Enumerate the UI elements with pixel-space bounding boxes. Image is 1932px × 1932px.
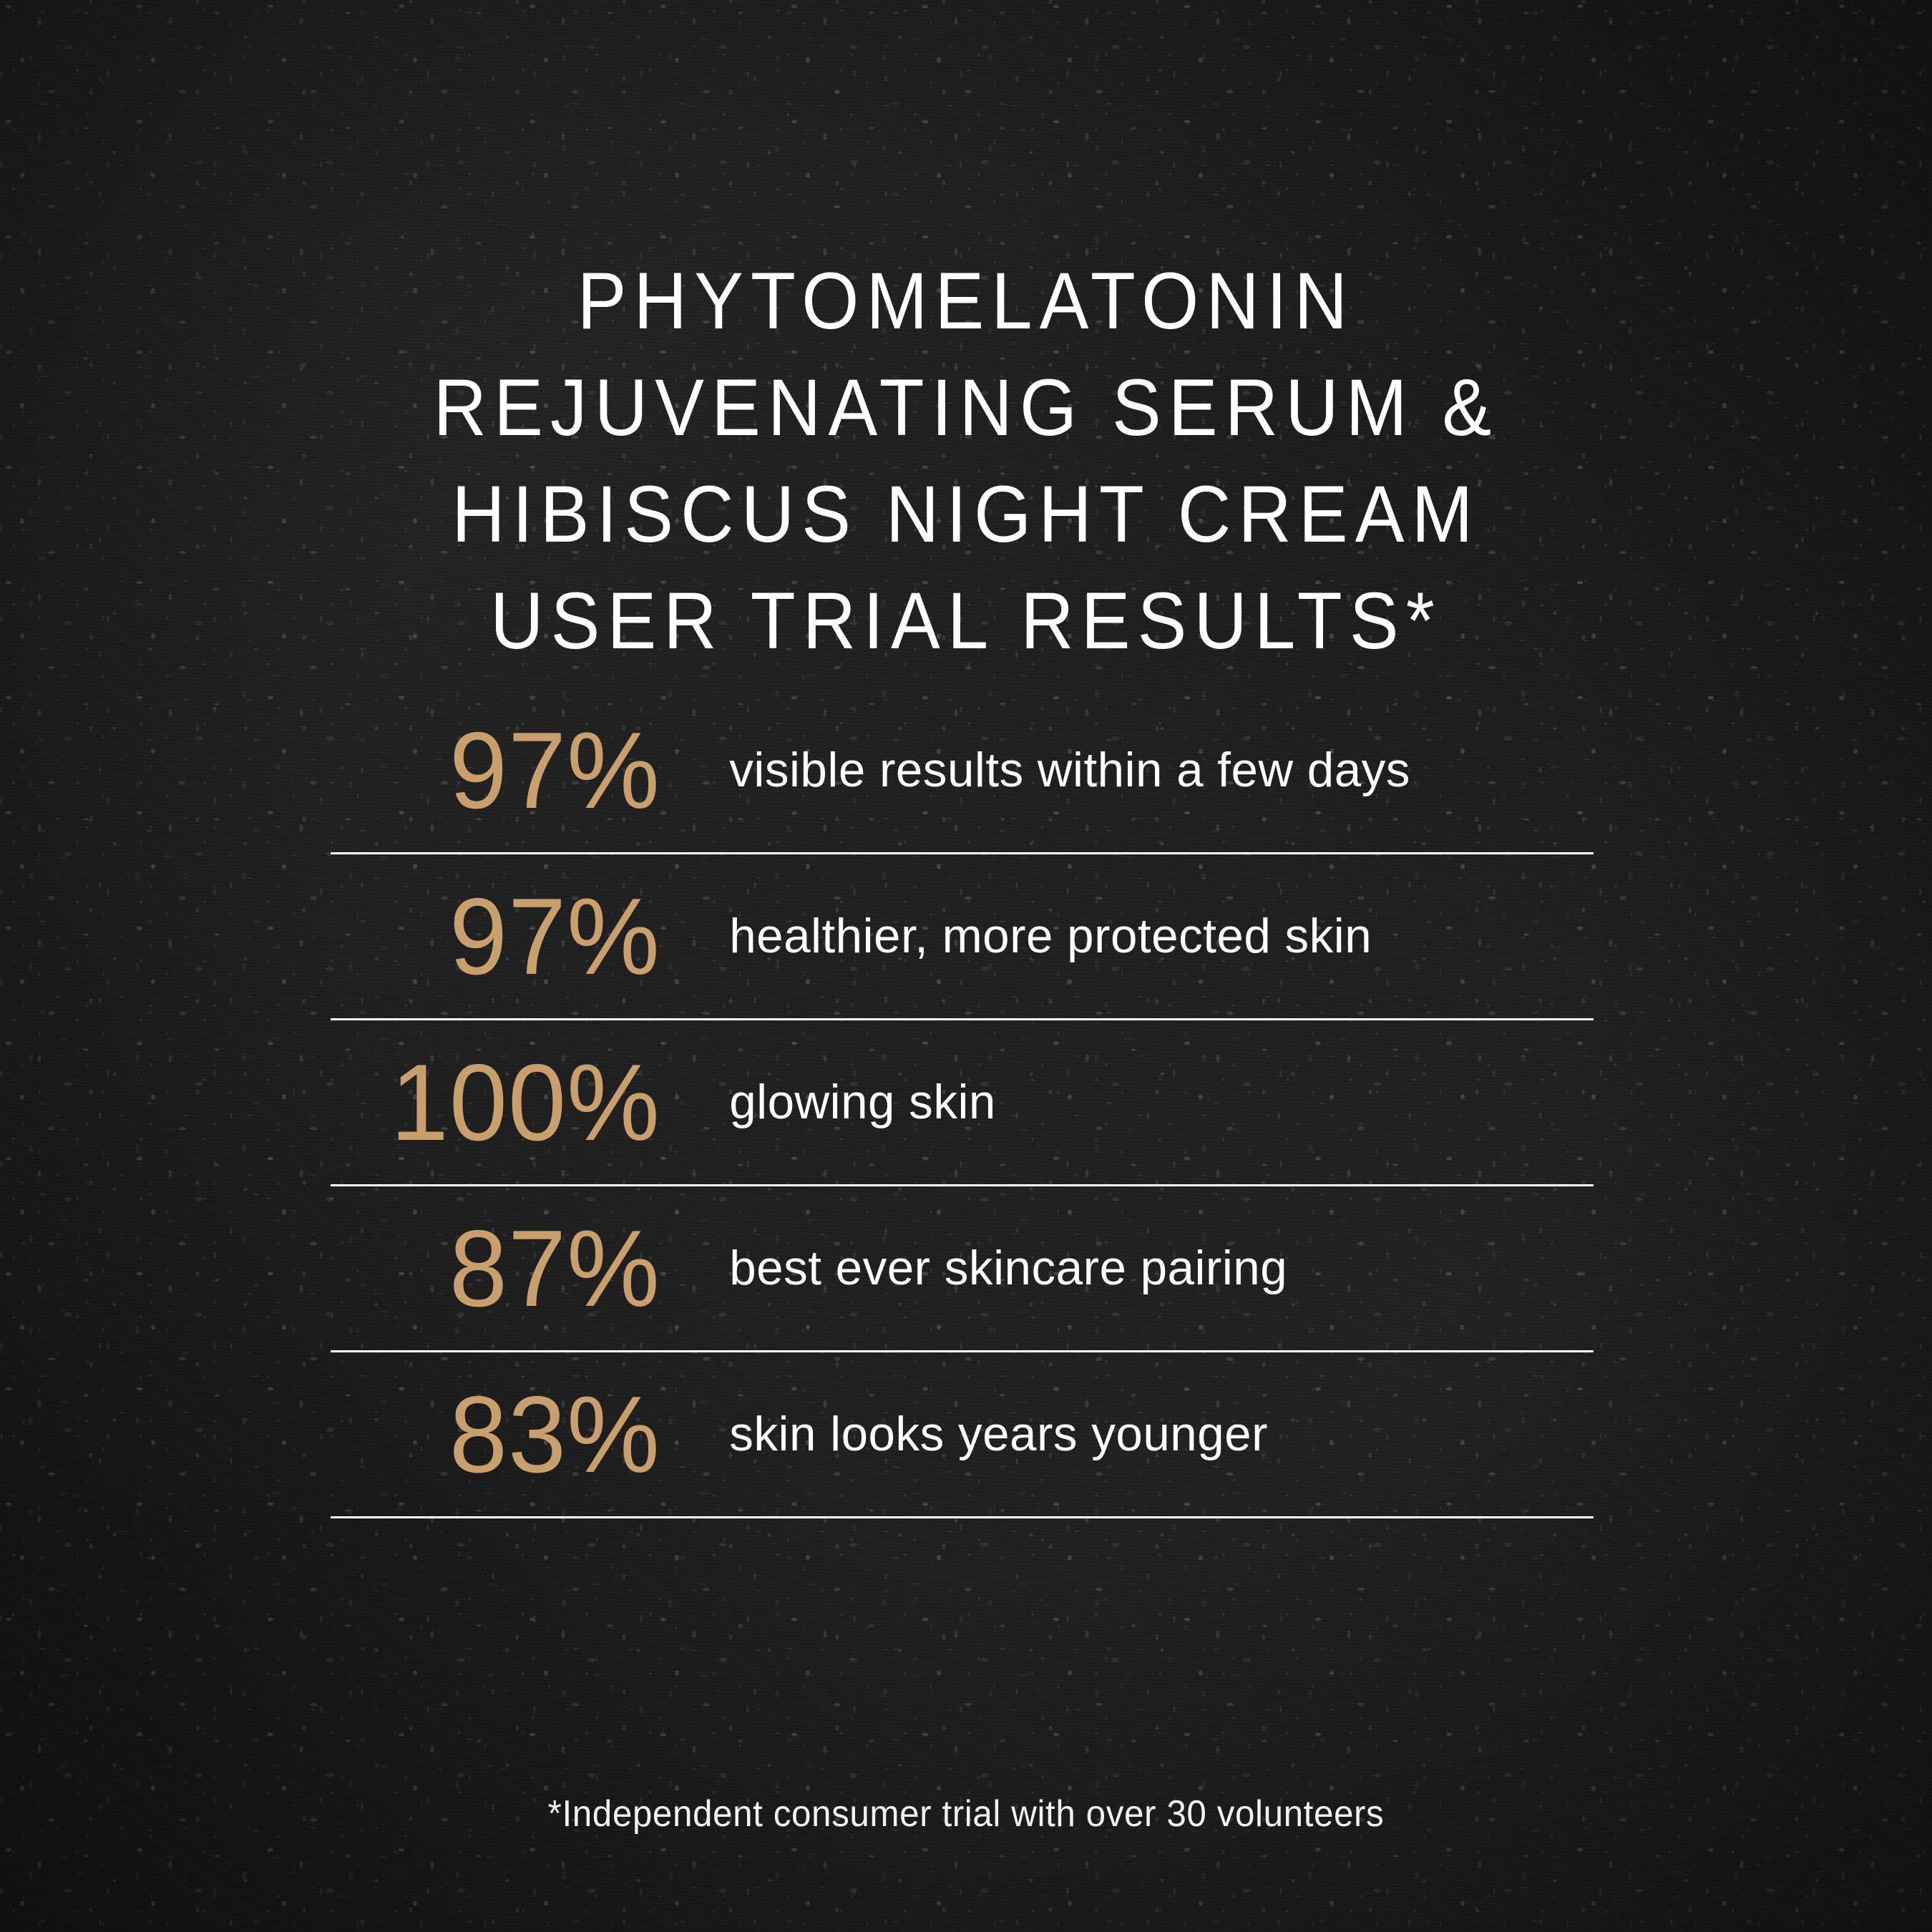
stat-description: healthier, more protected skin bbox=[674, 909, 1372, 963]
list-item: 100% glowing skin bbox=[331, 1020, 1594, 1186]
stat-percent-value: 100% bbox=[344, 1048, 674, 1157]
stat-description: glowing skin bbox=[674, 1075, 996, 1129]
stat-description: skin looks years younger bbox=[674, 1407, 1268, 1461]
results-poster: PHYTOMELATONIN REJUVENATING SERUM & HIBI… bbox=[0, 0, 1932, 1932]
list-item: 83% skin looks years younger bbox=[331, 1352, 1594, 1518]
title-line-3: HIBISCUS NIGHT CREAM bbox=[77, 462, 1855, 568]
stat-description: visible results within a few days bbox=[674, 743, 1410, 797]
stat-description: best ever skincare pairing bbox=[674, 1241, 1287, 1295]
stat-percent-value: 87% bbox=[344, 1214, 674, 1323]
list-item: 87% best ever skincare pairing bbox=[331, 1186, 1594, 1352]
title-line-4: USER TRIAL RESULTS* bbox=[77, 568, 1855, 675]
stat-percent-value: 83% bbox=[344, 1380, 674, 1489]
stat-percent-value: 97% bbox=[344, 716, 674, 825]
title-line-1: PHYTOMELATONIN bbox=[77, 248, 1855, 355]
list-item: 97% visible results within a few days bbox=[331, 688, 1594, 854]
page-title: PHYTOMELATONIN REJUVENATING SERUM & HIBI… bbox=[77, 248, 1855, 675]
results-list: 97% visible results within a few days 97… bbox=[331, 688, 1594, 1518]
footnote-disclaimer: *Independent consumer trial with over 30… bbox=[49, 1792, 1884, 1835]
title-line-2: REJUVENATING SERUM & bbox=[77, 355, 1855, 462]
stat-percent-value: 97% bbox=[344, 882, 674, 991]
list-item: 97% healthier, more protected skin bbox=[331, 854, 1594, 1020]
